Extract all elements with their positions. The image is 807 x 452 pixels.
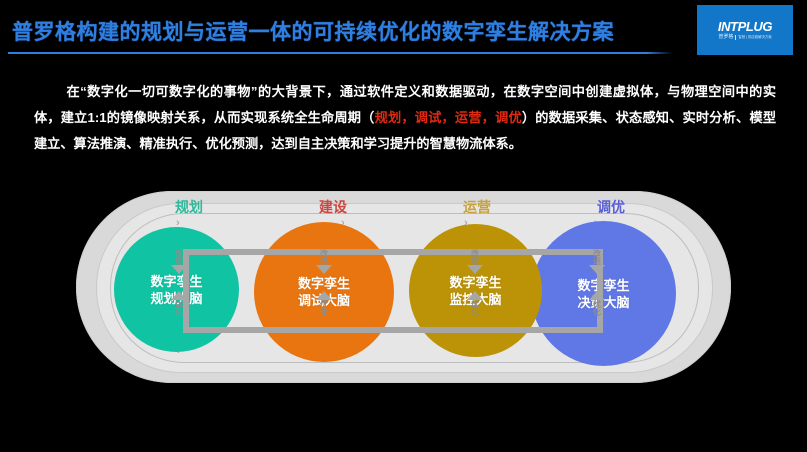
- optimize-arrowhead-monitor: [467, 291, 483, 300]
- optimize-arrowhead-debug: [316, 291, 332, 300]
- improve-label-monitor: 改进: [471, 249, 480, 265]
- intro-paragraph: 在“数字化一切可数字化的事物”的大背景下，通过软件定义和数据驱动，在数字空间中创…: [34, 79, 776, 157]
- optimize-arrow-debug: 优化: [313, 291, 335, 316]
- optimize-label-planning: 优化: [175, 300, 184, 316]
- optimize-label-debug: 优化: [320, 300, 329, 316]
- phase-label-operation: 运营: [463, 197, 491, 217]
- improve-label-planning: 改进: [175, 249, 184, 265]
- improve-label-debug: 改进: [320, 249, 329, 265]
- page-header: 普罗格构建的规划与运营一体的可持续优化的数字孪生解决方案 INTPLUG 普罗格…: [0, 0, 807, 60]
- improve-arrow-planning: 改进: [168, 249, 190, 274]
- improve-arrow-decision: 改进: [586, 249, 608, 274]
- improve-arrowhead-debug: [316, 265, 332, 274]
- page-title: 普罗格构建的规划与运营一体的可持续优化的数字孪生解决方案: [12, 16, 614, 46]
- paragraph-line-1: 在“数字化一切可数字化的事物”的大背景下，通过软件定义和数据驱动，在数字空间中创…: [66, 84, 695, 99]
- header-divider: [8, 52, 673, 54]
- company-logo: INTPLUG 普罗格 智慧 | 供应链解决方案: [697, 5, 793, 55]
- optimize-arrow-planning: 优化: [168, 291, 190, 316]
- improve-arrowhead-decision: [589, 265, 605, 274]
- lifecycle-highlight: 规划，调试，运营，调优: [375, 110, 522, 125]
- logo-subtitle-divider: [735, 35, 736, 40]
- lifecycle-diagram: › › › › ‹ ‹ ‹ ‹ 规划 建设 运营 调优 数字孪生 规划大脑 数字…: [76, 191, 731, 383]
- logo-wordmark: INTPLUG: [718, 20, 772, 33]
- improve-arrowhead-planning: [171, 265, 187, 274]
- connector-bar-bottom: [183, 327, 603, 333]
- connector-bar-top: [183, 249, 603, 255]
- improve-label-decision: 改进: [593, 249, 602, 265]
- node-circle-planning: 数字孪生 规划大脑: [114, 227, 239, 352]
- paragraph-line-2b: ）的数据采集、: [522, 110, 616, 125]
- logo-subtitle-en: 智慧 | 供应链解决方案: [738, 36, 771, 39]
- improve-arrowhead-monitor: [467, 265, 483, 274]
- optimize-arrowhead-decision: [589, 291, 605, 300]
- optimize-label-decision: 优化: [593, 300, 602, 316]
- logo-subtitle-cn: 普罗格: [718, 35, 733, 40]
- phase-label-tuning: 调优: [597, 197, 625, 217]
- optimize-arrowhead-planning: [171, 291, 187, 300]
- optimize-arrow-monitor: 优化: [464, 291, 486, 316]
- improve-arrow-debug: 改进: [313, 249, 335, 274]
- phase-label-planning: 规划: [175, 197, 203, 217]
- phase-label-construction: 建设: [319, 197, 347, 217]
- optimize-arrow-decision: 优化: [586, 291, 608, 316]
- improve-arrow-monitor: 改进: [464, 249, 486, 274]
- logo-subtitle: 普罗格 智慧 | 供应链解决方案: [718, 35, 771, 40]
- optimize-label-monitor: 优化: [471, 300, 480, 316]
